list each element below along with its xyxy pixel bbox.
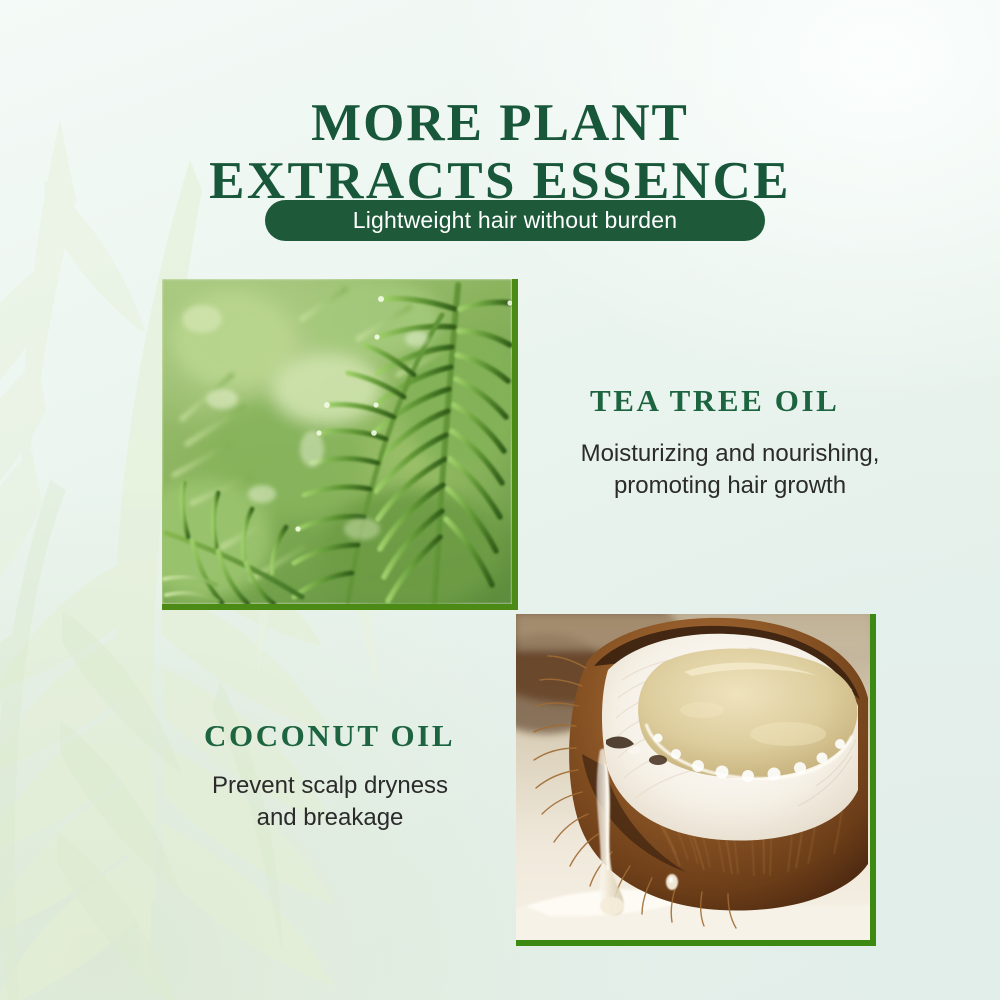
section-title-tea-tree-oil: TEA TREE OIL (590, 383, 839, 419)
section-body-line-2: promoting hair growth (540, 470, 920, 502)
section-body-line-1: Moisturizing and nourishing, (540, 438, 920, 470)
poster-canvas: MORE PLANT EXTRACTS ESSENCE Lightweight … (0, 0, 1000, 1000)
coconut-oil-photo (516, 614, 876, 946)
subtitle-banner: Lightweight hair without burden (265, 200, 765, 241)
section-body-coconut-oil: Prevent scalp dryness and breakage (170, 770, 490, 834)
section-body-line-1: Prevent scalp dryness (170, 770, 490, 802)
section-title-coconut-oil: COCONUT OIL (204, 718, 455, 754)
subtitle-text: Lightweight hair without burden (353, 207, 678, 234)
rosemary-plant-photo (162, 279, 518, 610)
section-body-tea-tree-oil: Moisturizing and nourishing, promoting h… (540, 438, 920, 502)
section-body-line-2: and breakage (170, 802, 490, 834)
page-title: MORE PLANT EXTRACTS ESSENCE (0, 94, 1000, 210)
headline-line-1: MORE PLANT (0, 94, 1000, 152)
